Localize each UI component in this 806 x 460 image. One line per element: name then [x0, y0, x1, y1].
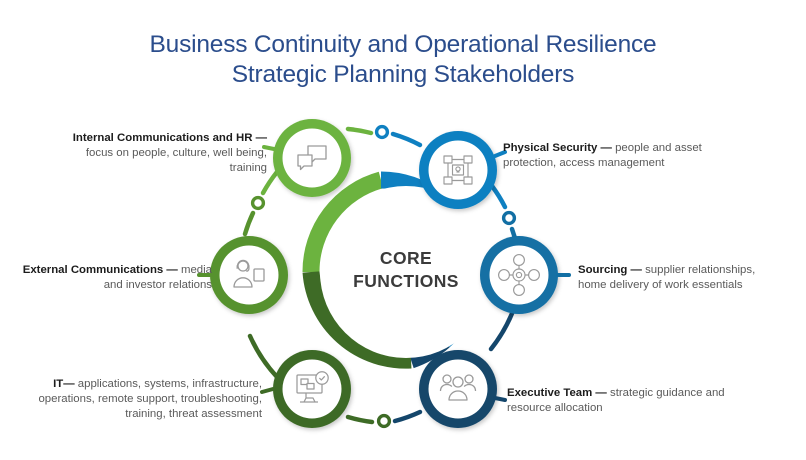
leader-line-executive: [495, 398, 505, 400]
core-label-line-1: CORE: [322, 247, 490, 270]
node-disc-external-communications: [220, 246, 279, 305]
callout-executive-team: Executive Team — strategic guidance and …: [507, 386, 742, 416]
connector-arc-top-right: [393, 134, 420, 145]
node-disc-physical-security: [429, 141, 488, 200]
core-label-line-2: FUNCTIONS: [322, 270, 490, 293]
callout-sourcing: Sourcing — supplier relationships, home …: [578, 263, 778, 293]
callout-heading-it: IT—: [53, 378, 75, 390]
connector-arc-top-left: [348, 129, 371, 133]
node-executive-team[interactable]: [419, 350, 497, 428]
callout-body-internal: focus on people, culture, well being, tr…: [86, 147, 267, 174]
leader-line-it: [262, 389, 273, 392]
callout-it: IT— applications, systems, infrastructur…: [12, 377, 262, 423]
callout-internal-communications-hr: Internal Communications and HR — focus o…: [52, 131, 267, 177]
node-it[interactable]: [273, 350, 351, 428]
callout-heading-sourcing: Sourcing —: [578, 264, 642, 276]
connector-dot-right: [504, 213, 515, 224]
connector-arc-upper-right: [492, 186, 505, 207]
node-physical-security[interactable]: [419, 131, 497, 209]
callout-heading-physical: Physical Security —: [503, 142, 612, 154]
node-sourcing[interactable]: [480, 236, 558, 314]
connector-arc-lower-left: [250, 336, 277, 377]
node-external-communications[interactable]: [210, 236, 288, 314]
callout-heading-external: External Communications —: [23, 264, 178, 276]
connector-arc-lower-right: [491, 311, 513, 349]
connector-dot-left: [253, 198, 264, 209]
core-functions-label: CORE FUNCTIONS: [322, 247, 490, 293]
callout-heading-executive: Executive Team —: [507, 387, 607, 399]
diagram-canvas: Business Continuity and Operational Resi…: [0, 0, 806, 460]
connector-arc-bottom-right: [395, 412, 420, 421]
callout-physical-security: Physical Security — people and asset pro…: [503, 141, 723, 171]
connector-arc-bottom-left: [348, 417, 372, 422]
node-disc-executive-team: [429, 360, 488, 419]
callout-external-communications: External Communications — media and inve…: [22, 263, 212, 293]
connector-dot-top: [377, 127, 388, 138]
callout-heading-internal: Internal Communications and HR —: [73, 132, 267, 144]
connector-arc-left: [245, 213, 253, 234]
connector-dot-bottom: [379, 416, 390, 427]
node-internal-communications-hr[interactable]: [273, 119, 351, 197]
